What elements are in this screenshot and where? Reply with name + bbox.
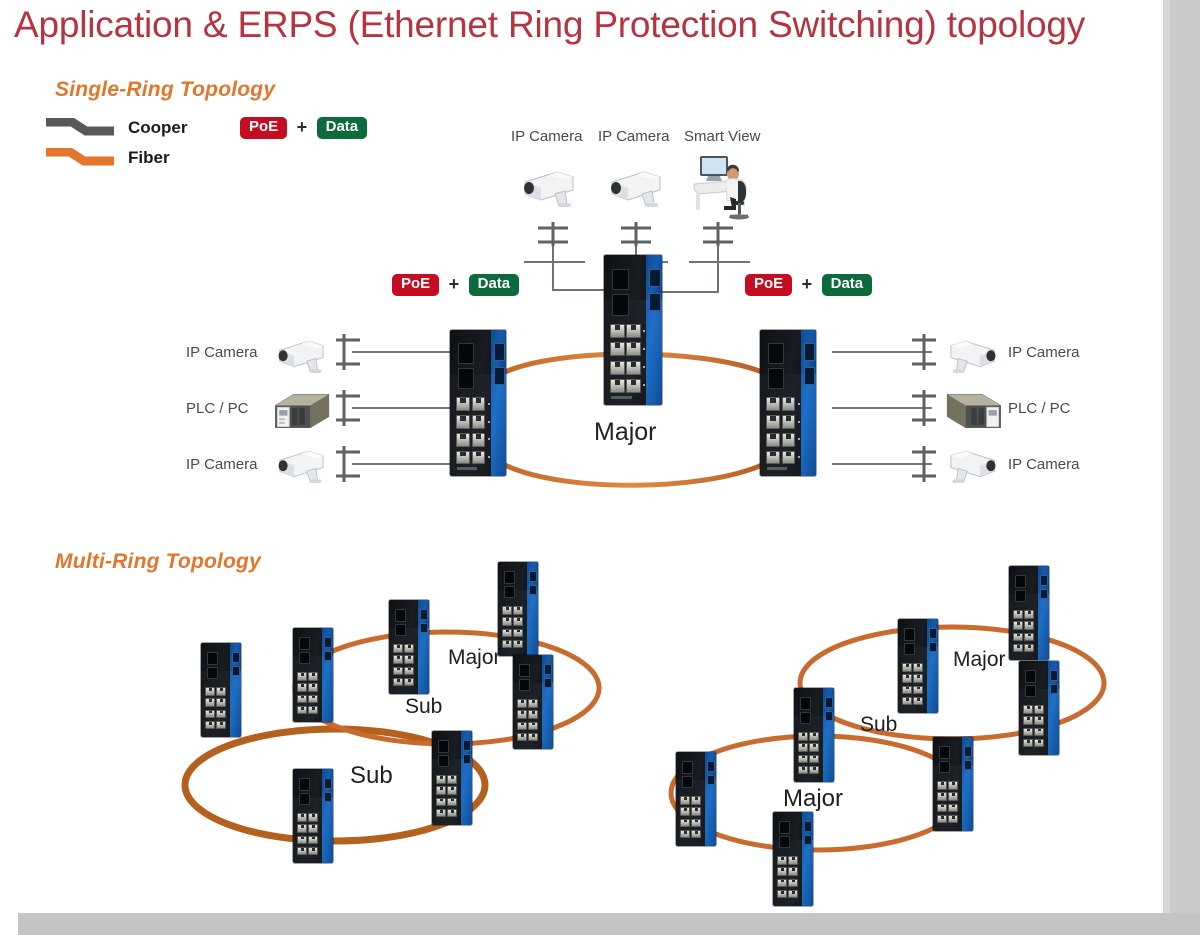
device-label-left-1: PLC / PC	[186, 400, 249, 417]
multiring-right-switch-1[interactable]	[676, 752, 716, 846]
bottom-bar	[18, 913, 1200, 935]
workstation-icon	[686, 150, 758, 222]
right-scrollbar-track[interactable]	[1163, 0, 1170, 915]
data-badge: Data	[469, 274, 520, 296]
multiring-left-switch-4[interactable]	[498, 562, 538, 656]
device-label-top-0: IP Camera	[511, 128, 582, 145]
plus-symbol: +	[292, 117, 313, 138]
title-divider	[0, 54, 1163, 56]
badge-pair-right: PoE + Data	[745, 274, 872, 296]
legend-badges: PoE + Data	[240, 117, 367, 139]
ring-label-right-sub: Sub	[860, 713, 897, 737]
multiring-right-switch-6[interactable]	[933, 737, 973, 831]
device-label-right-0: IP Camera	[1008, 344, 1079, 361]
multiring-right-switch-2[interactable]	[794, 688, 834, 782]
fiber-line-swatch	[44, 148, 116, 159]
legend: Cooper PoE + Data Fiber	[44, 118, 374, 180]
multiring-left-switch-2[interactable]	[293, 628, 333, 722]
multiring-right-switch-4[interactable]	[1009, 566, 1049, 660]
ring-label-left-major: Major	[448, 646, 501, 670]
ip-camera-icon	[274, 330, 334, 376]
device-label-top-1: IP Camera	[598, 128, 669, 145]
badge-pair-left: PoE + Data	[392, 274, 519, 296]
multiring-right-switch-7[interactable]	[773, 812, 813, 906]
ip-camera-icon	[274, 440, 334, 486]
multiring-right-switch-5[interactable]	[1019, 661, 1059, 755]
ip-camera-icon	[519, 160, 585, 210]
right-edge-switch[interactable]	[760, 330, 816, 476]
legend-label-fiber: Fiber	[128, 148, 170, 168]
ring-label-right-major-lower: Major	[783, 785, 843, 813]
device-label-right-1: PLC / PC	[1008, 400, 1071, 417]
legend-label-copper: Cooper	[128, 118, 188, 138]
multiring-left-switch-7[interactable]	[293, 769, 333, 863]
ring-label-right-major-upper: Major	[953, 648, 1006, 672]
plus-symbol: +	[444, 274, 465, 295]
device-label-left-2: IP Camera	[186, 456, 257, 473]
ip-camera-icon	[606, 160, 672, 210]
poe-badge: PoE	[745, 274, 792, 296]
multiring-left-switch-6[interactable]	[432, 731, 472, 825]
ring-label-left-sub-lower: Sub	[350, 762, 393, 790]
data-badge: Data	[822, 274, 873, 296]
copper-line-swatch	[44, 118, 116, 129]
plc-pc-icon	[270, 385, 336, 437]
ring-label-left-sub-upper: Sub	[405, 695, 442, 719]
device-label-left-0: IP Camera	[186, 344, 257, 361]
plus-symbol: +	[797, 274, 818, 295]
center-major-switch[interactable]	[604, 255, 662, 405]
poe-badge: PoE	[392, 274, 439, 296]
ip-camera-icon	[940, 330, 1000, 376]
device-label-right-2: IP Camera	[1008, 456, 1079, 473]
section-heading-multi-ring: Multi-Ring Topology	[55, 550, 261, 574]
data-badge: Data	[317, 117, 368, 139]
center-switch-label: Major	[594, 418, 657, 447]
multiring-left-switch-5[interactable]	[513, 655, 553, 749]
ip-camera-icon	[940, 440, 1000, 486]
multiring-left-switch-1[interactable]	[201, 643, 241, 737]
left-edge-switch[interactable]	[450, 330, 506, 476]
multiring-right-switch-3[interactable]	[898, 619, 938, 713]
page-title: Application & ERPS (Ethernet Ring Protec…	[14, 4, 1164, 46]
plc-pc-icon	[940, 385, 1006, 437]
poe-badge: PoE	[240, 117, 287, 139]
section-heading-single-ring: Single-Ring Topology	[55, 78, 275, 102]
device-label-top-2: Smart View	[684, 128, 760, 145]
diagram-canvas: Application & ERPS (Ethernet Ring Protec…	[0, 0, 1200, 935]
multiring-left-switch-3[interactable]	[389, 600, 429, 694]
